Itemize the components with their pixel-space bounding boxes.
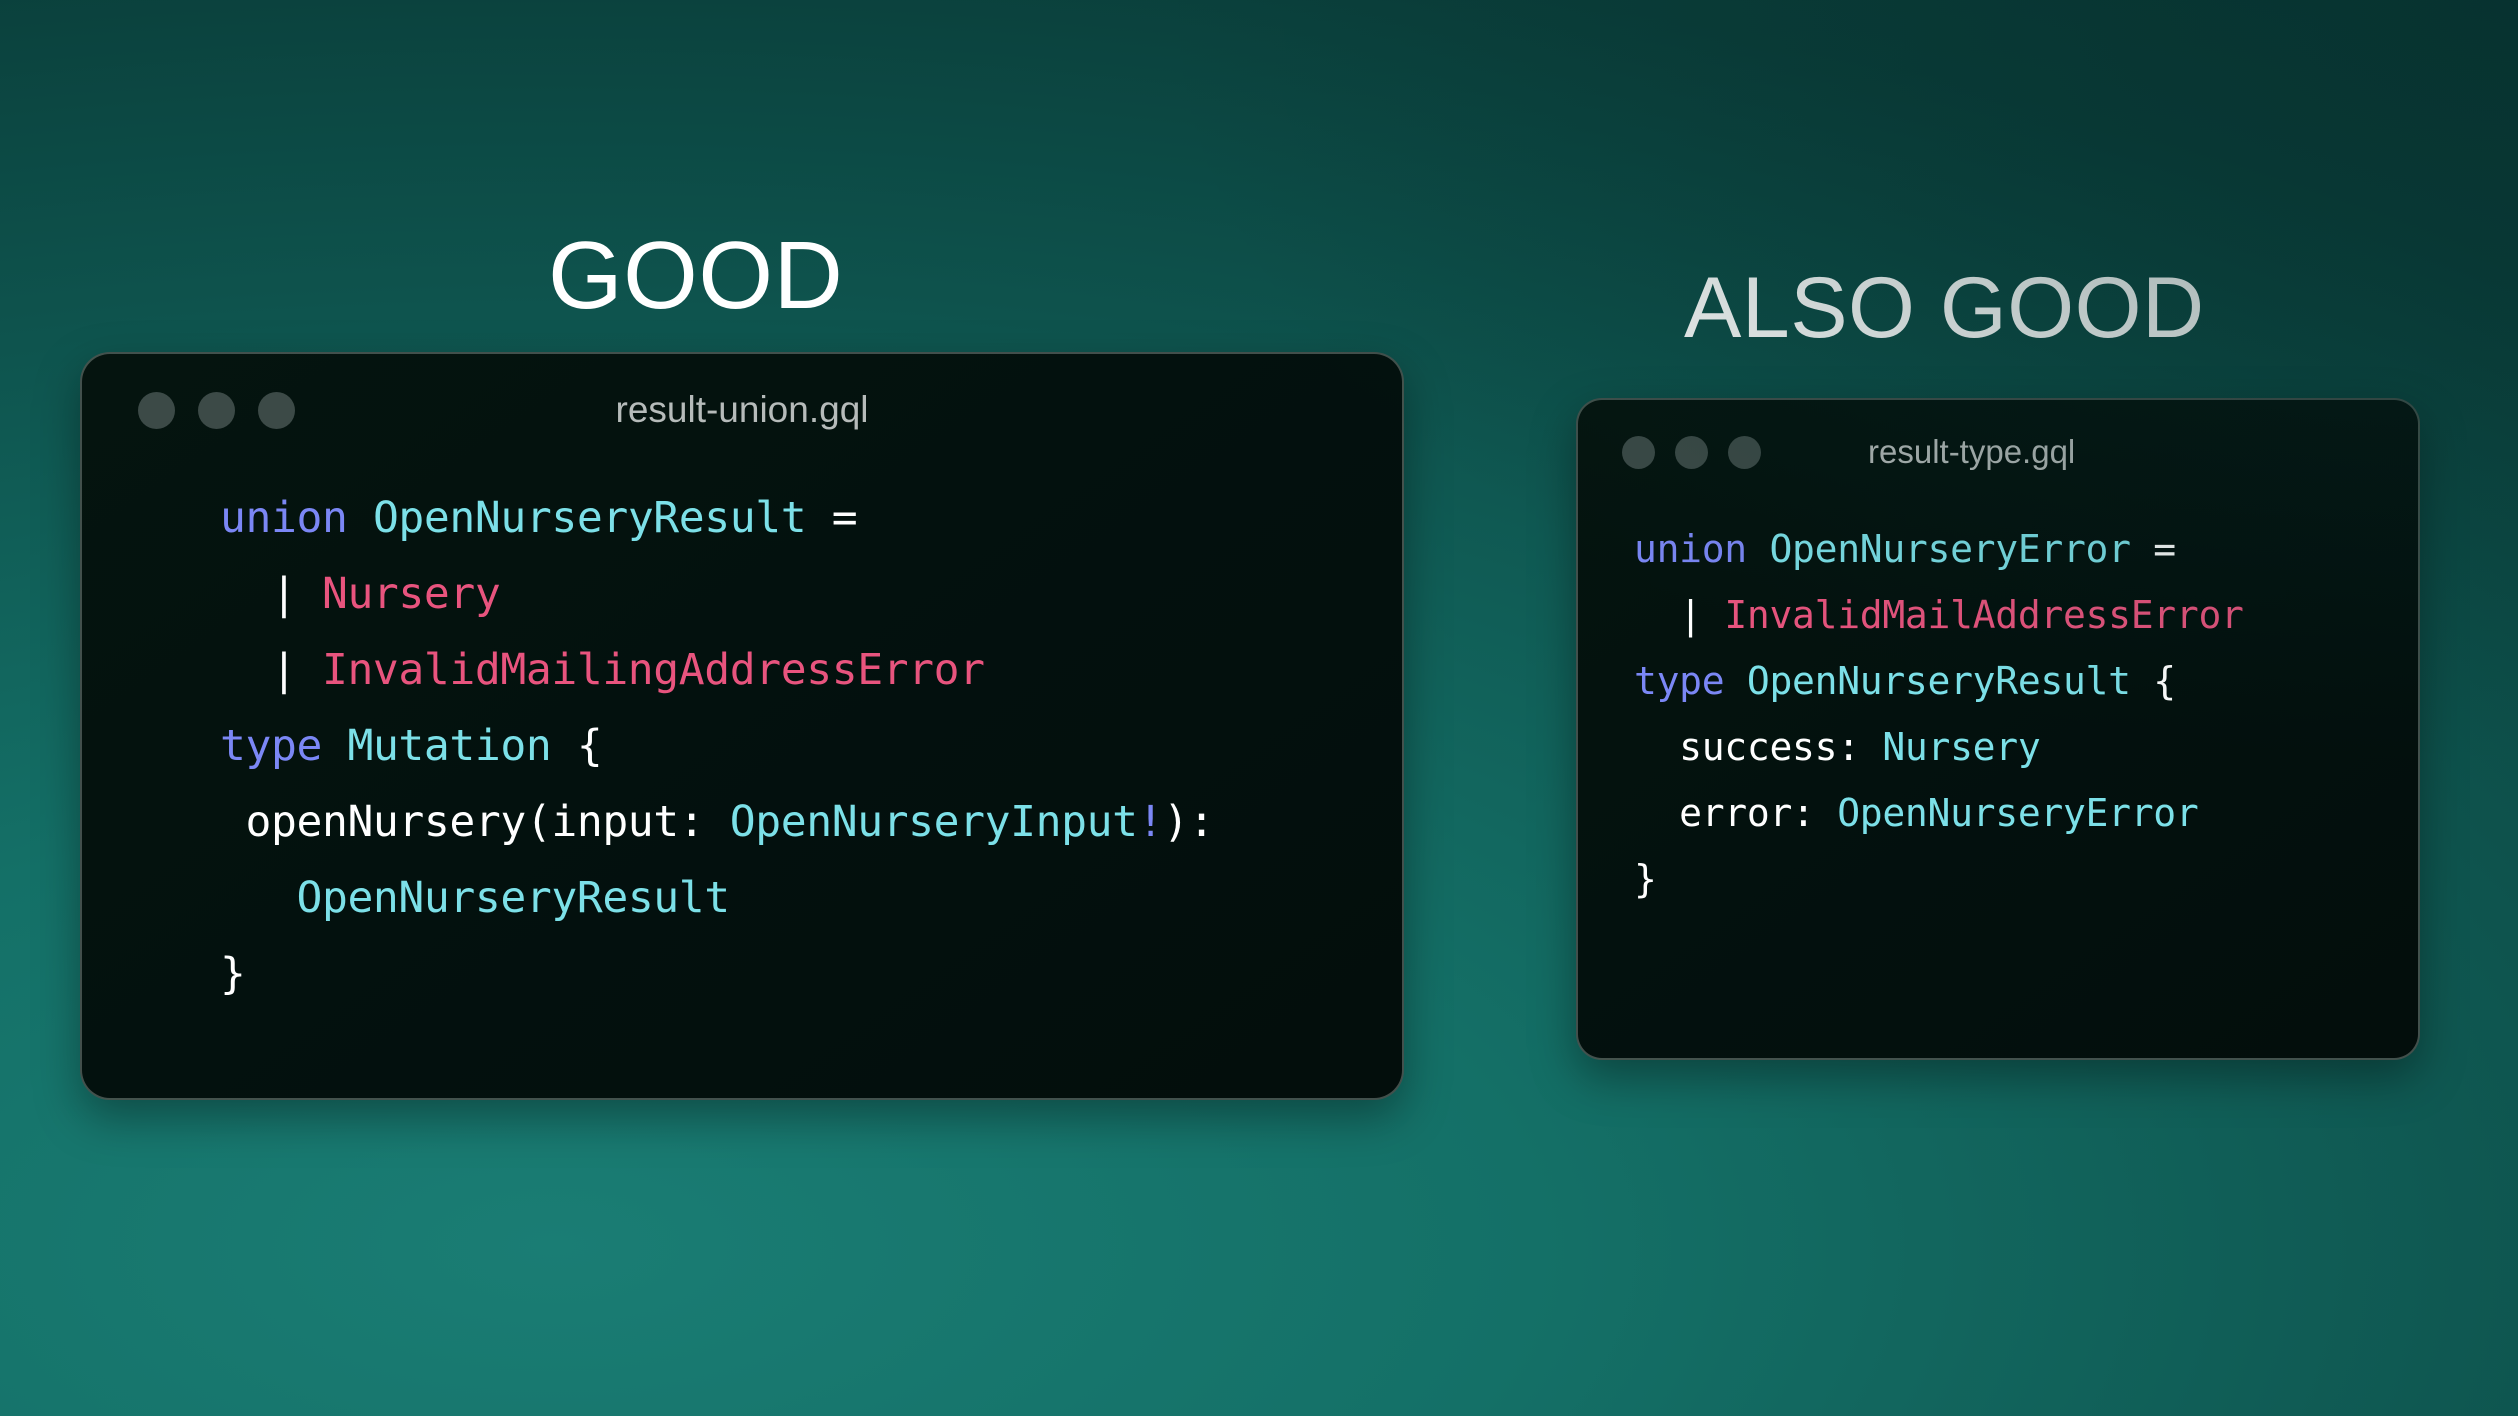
code-token-mem: Nursery xyxy=(322,569,500,619)
code-token-pun xyxy=(220,873,296,923)
code-token-pun: } xyxy=(1634,857,1657,901)
code-token-type: Nursery xyxy=(1882,725,2040,769)
code-token-kw: union xyxy=(1634,527,1769,571)
code-line: error: OpenNurseryError xyxy=(1634,780,2418,846)
filename-result-type: result-type.gql xyxy=(1868,433,2075,471)
code-token-type: OpenNurseryResult xyxy=(373,493,832,543)
window-dot-zoom-icon[interactable] xyxy=(1728,436,1761,469)
heading-good: GOOD xyxy=(548,228,843,324)
code-token-type: OpenNurseryError xyxy=(1769,527,2153,571)
titlebar-result-union: result-union.gql xyxy=(82,354,1402,466)
code-token-pun: { xyxy=(577,721,603,771)
code-token-pun: = xyxy=(2153,527,2176,571)
code-line: | InvalidMailingAddressError xyxy=(220,632,1402,708)
titlebar-result-type: result-type.gql xyxy=(1578,400,2418,504)
code-token-pun: | xyxy=(220,569,322,619)
code-line: type Mutation { xyxy=(220,708,1402,784)
code-line: union OpenNurseryResult = xyxy=(220,480,1402,556)
code-line: } xyxy=(1634,846,2418,912)
filename-result-union: result-union.gql xyxy=(616,389,869,431)
code-token-pun: success: xyxy=(1634,725,1882,769)
code-window-result-type: result-type.gql union OpenNurseryError =… xyxy=(1576,398,2420,1060)
heading-also-good: ALSO GOOD xyxy=(1684,265,2205,351)
code-token-pun: openNursery(input: xyxy=(220,797,730,847)
code-token-kw: type xyxy=(220,721,347,771)
code-line: openNursery(input: OpenNurseryInput!): xyxy=(220,784,1402,860)
code-token-pun: { xyxy=(2153,659,2176,703)
code-line: OpenNurseryResult xyxy=(220,860,1402,936)
code-token-pun: = xyxy=(832,493,858,543)
code-block-result-type: union OpenNurseryError = | InvalidMailAd… xyxy=(1578,504,2418,912)
code-token-pun: error: xyxy=(1634,791,1837,835)
window-dot-close-icon[interactable] xyxy=(138,392,175,429)
code-token-type: OpenNurseryError xyxy=(1837,791,2198,835)
code-token-pun: | xyxy=(220,645,322,695)
code-token-type: Mutation xyxy=(347,721,576,771)
code-token-type: OpenNurseryInput xyxy=(730,797,1138,847)
code-token-mem: InvalidMailAddressError xyxy=(1724,593,2243,637)
code-block-result-union: union OpenNurseryResult = | Nursery | In… xyxy=(82,466,1402,1012)
code-token-kw: type xyxy=(1634,659,1747,703)
code-token-type: OpenNurseryResult xyxy=(296,873,729,923)
code-window-result-union: result-union.gql union OpenNurseryResult… xyxy=(80,352,1404,1100)
window-controls xyxy=(138,392,295,429)
code-line: | Nursery xyxy=(220,556,1402,632)
window-controls xyxy=(1622,436,1761,469)
code-token-pun: | xyxy=(1634,593,1724,637)
code-line: success: Nursery xyxy=(1634,714,2418,780)
window-dot-minimize-icon[interactable] xyxy=(198,392,235,429)
code-token-kw: union xyxy=(220,493,373,543)
code-token-type: OpenNurseryResult xyxy=(1747,659,2153,703)
code-line: union OpenNurseryError = xyxy=(1634,516,2418,582)
code-line: | InvalidMailAddressError xyxy=(1634,582,2418,648)
window-dot-close-icon[interactable] xyxy=(1622,436,1655,469)
code-token-bang: ! xyxy=(1138,797,1164,847)
window-dot-minimize-icon[interactable] xyxy=(1675,436,1708,469)
code-line: } xyxy=(220,936,1402,1012)
code-token-pun: } xyxy=(220,949,246,999)
code-token-mem: InvalidMailingAddressError xyxy=(322,645,985,695)
code-token-pun: ): xyxy=(1163,797,1214,847)
slide-canvas: GOOD result-union.gql union OpenNurseryR… xyxy=(0,0,2518,1416)
window-dot-zoom-icon[interactable] xyxy=(258,392,295,429)
code-line: type OpenNurseryResult { xyxy=(1634,648,2418,714)
